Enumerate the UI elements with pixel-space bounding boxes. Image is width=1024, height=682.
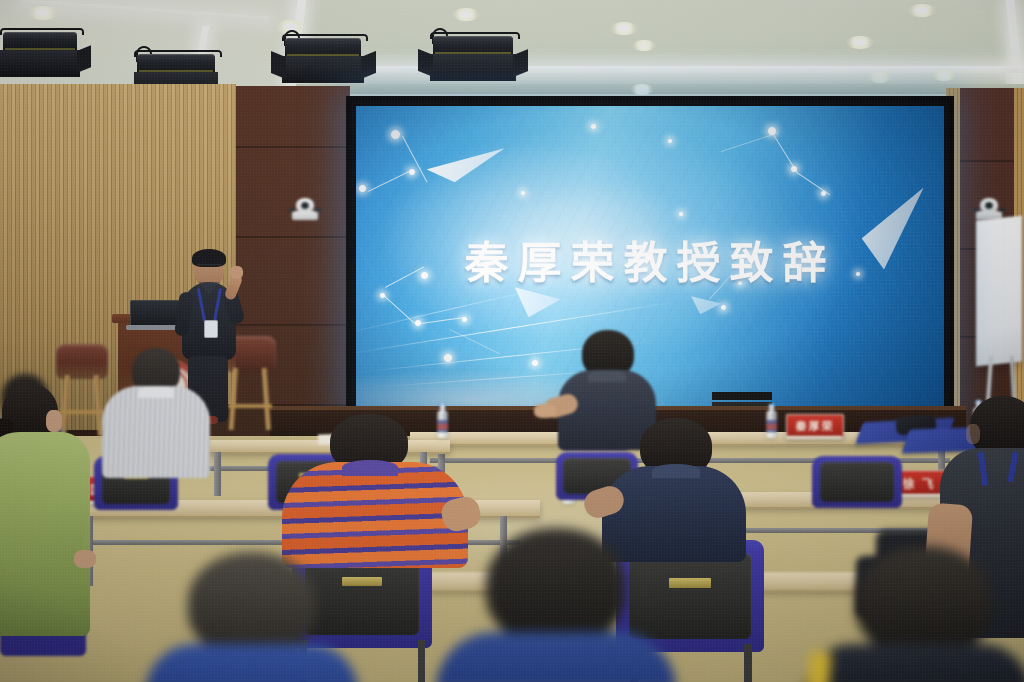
stage-spotlight	[282, 34, 364, 86]
wall-camera-right	[976, 198, 1002, 220]
camera-mount-arm	[999, 208, 1005, 212]
downlight-icon	[630, 84, 654, 95]
camera-lens-icon	[301, 202, 308, 209]
camera-base	[292, 211, 318, 220]
person-hand	[534, 404, 556, 418]
downlight-icon	[915, 7, 928, 14]
downlight-icon	[853, 39, 866, 46]
audience-striped-shirt	[102, 348, 212, 478]
screen-title-text: 秦厚荣教授致辞	[356, 227, 944, 291]
speaker-glasses-icon	[197, 264, 221, 269]
person-head	[486, 528, 626, 644]
person-torso	[436, 632, 676, 682]
stage-spotlight	[0, 28, 80, 80]
screen-lower-bar	[712, 392, 772, 400]
person-torso	[146, 644, 358, 682]
audience-foreground-right	[804, 546, 1024, 682]
chair-leg	[744, 644, 752, 682]
person-torso	[804, 644, 1024, 682]
person-collar	[588, 370, 626, 382]
person-collar	[342, 460, 398, 476]
camera-lens-icon	[985, 202, 992, 209]
downlight-icon	[632, 40, 656, 51]
flipchart-whiteboard	[976, 216, 1022, 367]
downlight-icon	[617, 25, 630, 32]
person-ear-skin	[966, 424, 980, 444]
downlight-icon	[459, 11, 472, 18]
audience-foreground-center	[436, 528, 676, 682]
person-ear-skin	[46, 410, 62, 432]
speaker-hand	[230, 266, 243, 279]
wall-camera-left	[292, 198, 318, 220]
name-card-stand	[786, 436, 842, 439]
panel-seam	[236, 146, 350, 148]
stool-leg	[262, 368, 271, 430]
name-card-text: 徐 飞	[902, 475, 935, 492]
water-bottle	[766, 404, 777, 438]
spotlight-barndoor	[430, 54, 516, 81]
person-hand	[74, 550, 96, 568]
downlight-icon	[284, 23, 298, 30]
downlight-icon	[932, 70, 956, 81]
downlight-icon	[36, 9, 50, 16]
spotlight-barndoor	[282, 56, 364, 83]
person-head	[188, 552, 316, 656]
table-leg	[214, 452, 221, 496]
camera-mount-arm	[973, 208, 979, 212]
ceiling-edge-shadow	[296, 84, 1024, 94]
conference-hall-photo: 秦厚荣教授致辞	[0, 0, 1024, 682]
person-torso	[102, 386, 210, 478]
chair-leg	[418, 640, 425, 682]
name-card-text: 秦厚荣	[796, 418, 835, 434]
cove-light-top	[296, 66, 1024, 73]
speaker-badge	[204, 320, 218, 338]
person-collar	[652, 464, 700, 478]
person-yellow-strap	[806, 651, 832, 682]
spotlight-barndoor	[0, 50, 80, 77]
audience-foreground-left	[146, 552, 358, 682]
chair-pad	[820, 462, 894, 502]
downlight-icon	[868, 72, 892, 83]
stage-spotlight	[430, 32, 516, 84]
chair-empty-right	[812, 456, 902, 508]
name-card-center: 秦厚荣	[786, 414, 844, 438]
camera-mount-arm	[315, 208, 321, 212]
panel-seam	[236, 324, 350, 326]
camera-mount-arm	[289, 208, 295, 212]
bottle-label	[766, 420, 777, 432]
person-head	[856, 546, 992, 656]
panel-seam	[236, 236, 350, 238]
person-collar	[138, 386, 174, 398]
audience-woman-green	[0, 384, 100, 634]
